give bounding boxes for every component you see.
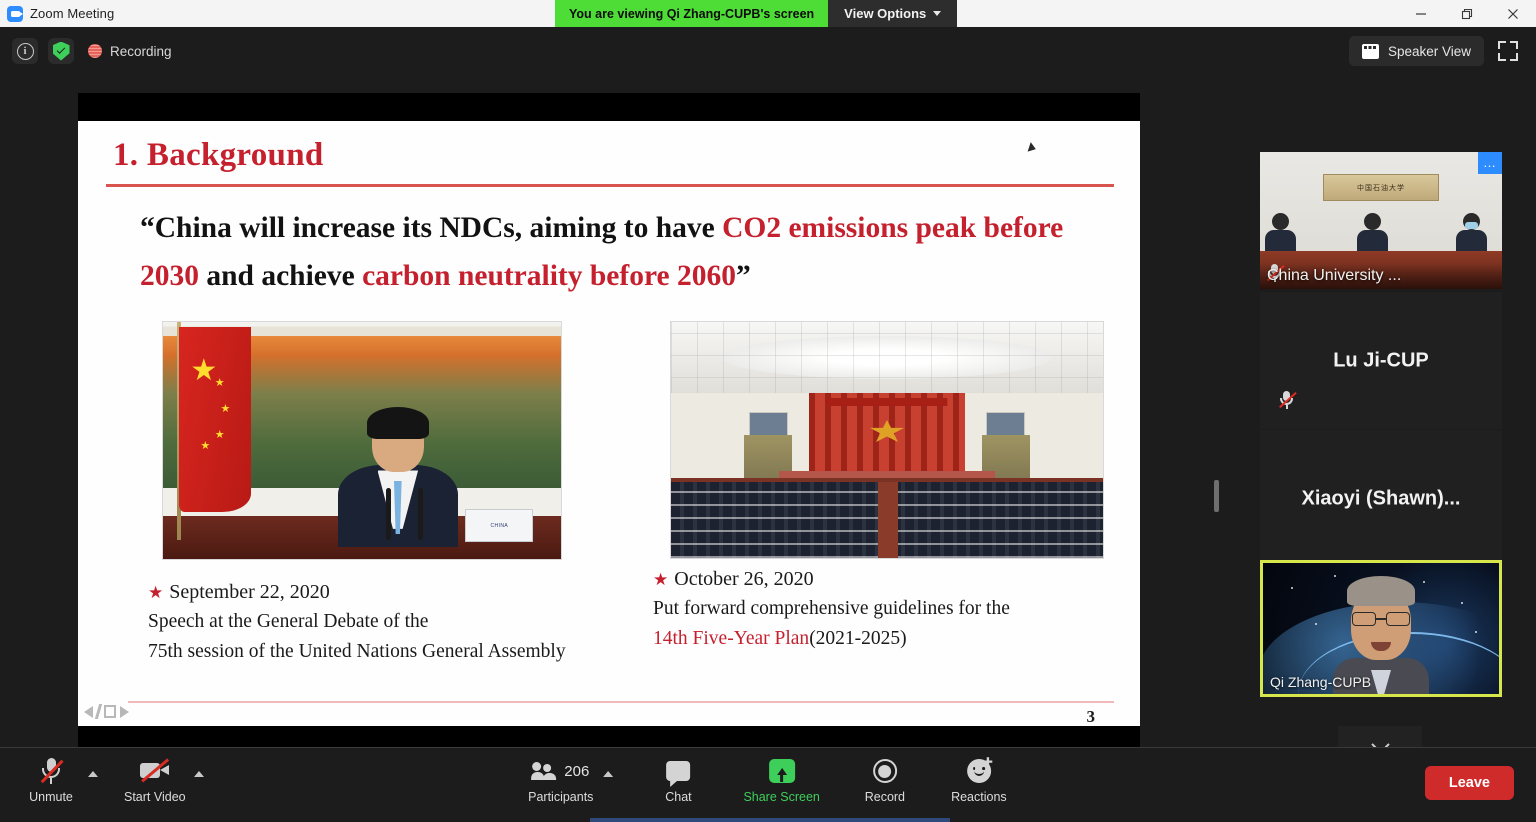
record-button[interactable]: Record bbox=[856, 756, 914, 804]
unmute-button[interactable]: Unmute bbox=[22, 756, 80, 804]
meeting-controls-bar: Unmute Start Video bbox=[0, 747, 1536, 822]
share-screen-label: Share Screen bbox=[743, 790, 819, 804]
window-controls bbox=[1398, 0, 1536, 27]
speaker-view-icon bbox=[1362, 44, 1379, 59]
zoom-meeting-window: Zoom Meeting You are viewing Qi Zhang-CU… bbox=[0, 0, 1536, 822]
top-bar-right: Speaker View bbox=[1349, 36, 1536, 66]
chevron-down-icon bbox=[933, 11, 941, 16]
minimize-button[interactable] bbox=[1398, 0, 1444, 27]
unmute-label: Unmute bbox=[29, 790, 73, 804]
slide-footer-rule bbox=[128, 701, 1114, 703]
chat-button[interactable]: Chat bbox=[649, 756, 707, 804]
mouse-cursor-icon bbox=[1028, 142, 1038, 154]
slide-images: ★★ ★★★ CHINA bbox=[78, 321, 1140, 571]
quote-close-mark: ” bbox=[736, 260, 751, 292]
star-icon: ★ bbox=[148, 583, 163, 602]
record-circle-icon bbox=[873, 759, 897, 783]
right-caption: ★October 26, 2020 Put forward comprehens… bbox=[653, 564, 1103, 654]
chat-bubble-icon bbox=[666, 761, 690, 781]
speaker-view-label: Speaker View bbox=[1388, 44, 1471, 59]
reactions-smiley-icon: ✚ bbox=[967, 759, 991, 783]
microphone-muted-icon bbox=[40, 758, 62, 784]
main-controls: 206 Participants Chat Share Screen Recor… bbox=[528, 756, 1008, 804]
right-caption-date: October 26, 2020 bbox=[674, 568, 813, 590]
view-options-label: View Options bbox=[844, 6, 926, 21]
participants-count: 206 bbox=[564, 763, 589, 780]
right-caption-line1: Put forward comprehensive guidelines for… bbox=[653, 594, 1103, 624]
participants-button[interactable]: 206 Participants bbox=[528, 756, 593, 804]
country-plate-en: CHINA bbox=[491, 523, 509, 529]
av-controls: Unmute Start Video bbox=[22, 756, 204, 804]
title-underline bbox=[106, 184, 1114, 187]
quote-open-mark: “ bbox=[140, 212, 155, 244]
left-caption: ★September 22, 2020 Speech at the Genera… bbox=[148, 577, 648, 667]
quote-segment-3: and achieve bbox=[199, 260, 362, 292]
shared-screen-area: 1. Background “China will increase its N… bbox=[0, 75, 1216, 747]
prev-slide-arrow-icon[interactable] bbox=[84, 706, 93, 718]
slide-title: 1. Background bbox=[113, 137, 324, 174]
microphone-muted-icon bbox=[1278, 390, 1295, 410]
video-tile-qi-zhang-cupb-active-speaker[interactable]: Qi Zhang-CUPB bbox=[1260, 560, 1502, 697]
powerpoint-nav-controls bbox=[84, 704, 129, 719]
info-icon: i bbox=[17, 43, 34, 60]
tile-more-options-button[interactable]: … bbox=[1478, 152, 1502, 174]
title-bar-center: You are viewing Qi Zhang-CUPB's screen V… bbox=[114, 0, 1398, 27]
app-title: Zoom Meeting bbox=[30, 6, 114, 21]
recording-indicator[interactable]: Recording bbox=[88, 44, 172, 59]
record-label: Record bbox=[865, 790, 905, 804]
shared-content-frame: 1. Background “China will increase its N… bbox=[78, 93, 1140, 749]
share-screen-button[interactable]: Share Screen bbox=[743, 756, 819, 804]
participants-caret[interactable] bbox=[603, 771, 613, 777]
participant-video-strip: 中国石油大学 China University ... … Lu Ji-CUP … bbox=[1248, 140, 1520, 752]
view-options-button[interactable]: View Options bbox=[828, 0, 957, 27]
video-tile-lu-ji-cup[interactable]: Lu Ji-CUP bbox=[1260, 292, 1502, 429]
restore-button[interactable] bbox=[1444, 0, 1490, 27]
university-banner: 中国石油大学 bbox=[1323, 174, 1439, 201]
presentation-slide[interactable]: 1. Background “China will increase its N… bbox=[78, 121, 1140, 726]
slide-quote: “China will increase its NDCs, aiming to… bbox=[140, 205, 1100, 301]
taskbar-underline bbox=[590, 818, 950, 822]
tile-name: Xiaoyi (Shawn)... bbox=[1260, 487, 1502, 510]
meeting-top-bar: i Recording Speaker View bbox=[0, 27, 1536, 75]
screen-share-banner: You are viewing Qi Zhang-CUPB's screen bbox=[555, 0, 828, 27]
tile-name: Lu Ji-CUP bbox=[1260, 349, 1502, 372]
start-video-label: Start Video bbox=[124, 790, 186, 804]
star-icon: ★ bbox=[653, 570, 668, 589]
participants-label: Participants bbox=[528, 790, 593, 804]
speaker-view-button[interactable]: Speaker View bbox=[1349, 36, 1484, 66]
tile-name: China University ... bbox=[1267, 267, 1401, 285]
encryption-status-button[interactable] bbox=[48, 38, 74, 64]
enter-fullscreen-icon[interactable] bbox=[1498, 41, 1518, 61]
reactions-label: Reactions bbox=[951, 790, 1007, 804]
start-video-button[interactable]: Start Video bbox=[124, 756, 186, 804]
left-caption-line2: 75th session of the United Nations Gener… bbox=[148, 637, 648, 667]
title-bar-left: Zoom Meeting bbox=[0, 6, 114, 22]
leave-button[interactable]: Leave bbox=[1425, 766, 1514, 800]
meeting-info-button[interactable]: i bbox=[12, 38, 38, 64]
slide-page-number: 3 bbox=[1087, 707, 1096, 726]
tile-name: Qi Zhang-CUPB bbox=[1270, 674, 1371, 690]
right-caption-line2-rest: (2021-2025) bbox=[809, 628, 906, 649]
xi-jinping-un-speech-photo: ★★ ★★★ CHINA bbox=[162, 321, 562, 560]
window-title-bar: Zoom Meeting You are viewing Qi Zhang-CU… bbox=[0, 0, 1536, 27]
audio-options-caret[interactable] bbox=[88, 771, 98, 777]
recording-label: Recording bbox=[110, 44, 172, 59]
zoom-logo-icon bbox=[7, 6, 23, 22]
chat-label: Chat bbox=[665, 790, 691, 804]
camera-off-icon bbox=[140, 761, 170, 781]
country-nameplate: CHINA bbox=[465, 509, 533, 542]
video-options-caret[interactable] bbox=[194, 771, 204, 777]
recording-indicator-icon bbox=[88, 44, 102, 58]
pen-annotate-icon[interactable] bbox=[95, 704, 102, 719]
left-caption-date: September 22, 2020 bbox=[169, 581, 330, 603]
close-button[interactable] bbox=[1490, 0, 1536, 27]
reactions-button[interactable]: ✚ Reactions bbox=[950, 756, 1008, 804]
participants-icon bbox=[532, 762, 558, 780]
next-slide-arrow-icon[interactable] bbox=[120, 706, 129, 718]
eyeglasses-graphic bbox=[1352, 612, 1410, 627]
video-tile-xiaoyi-shawn[interactable]: Xiaoyi (Shawn)... bbox=[1260, 430, 1502, 567]
video-tile-china-university[interactable]: 中国石油大学 China University ... … bbox=[1260, 152, 1502, 289]
panel-resize-handle[interactable] bbox=[1214, 480, 1219, 512]
share-screen-icon bbox=[769, 759, 795, 783]
quote-highlight-2: carbon neutrality before 2060 bbox=[362, 260, 736, 292]
right-caption-highlight: 14th Five-Year Plan bbox=[653, 628, 809, 649]
left-caption-line1: Speech at the General Debate of the bbox=[148, 607, 648, 637]
shield-check-icon bbox=[53, 42, 70, 61]
great-hall-of-the-people-plenum-photo bbox=[670, 321, 1104, 559]
quote-segment-1: China will increase its NDCs, aiming to … bbox=[155, 212, 722, 244]
slide-menu-icon[interactable] bbox=[104, 705, 116, 718]
china-flag-graphic: ★★ ★★★ bbox=[179, 327, 251, 512]
